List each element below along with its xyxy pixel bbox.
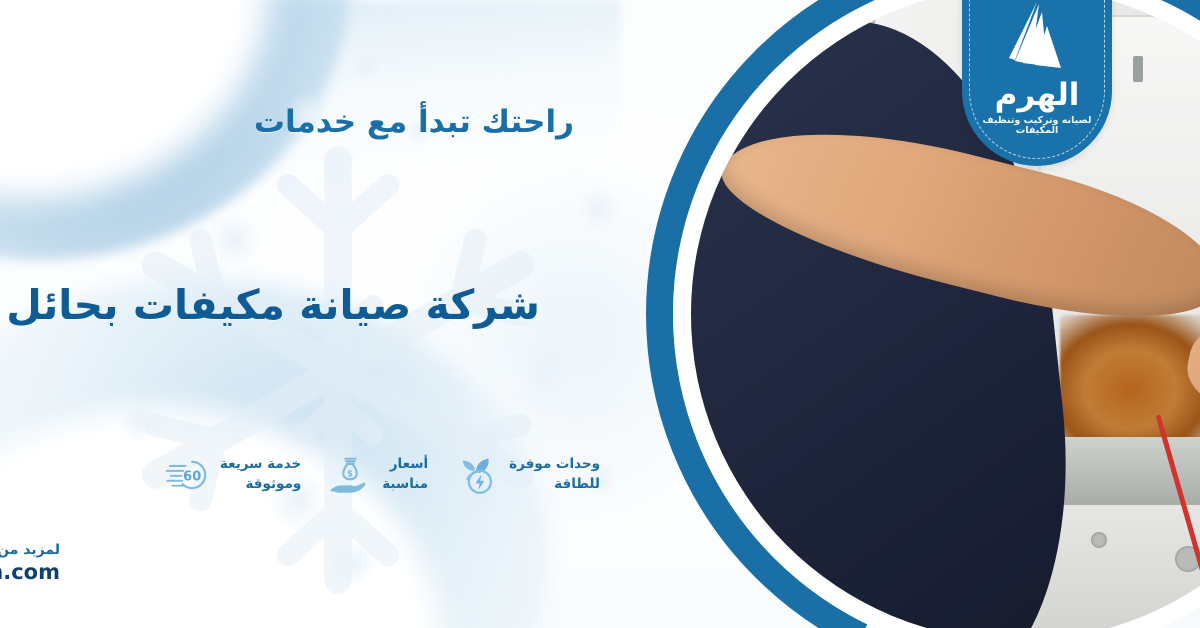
headline: راحتك تبدأ مع خدمات [254, 104, 574, 140]
bokeh-dot [206, 212, 262, 268]
footer-more-info: لمزيد من المعلومات [0, 541, 60, 559]
feature-label-speed: خدمة سريعة وموثوقة [220, 455, 301, 494]
bokeh-dot [120, 402, 160, 442]
logo-name: الهرم [962, 80, 1112, 111]
leaf-energy-icon [454, 452, 500, 498]
feature-item-price: أسعار مناسبة $ [327, 452, 428, 498]
feature-label-line1: وحدات موفرة [509, 456, 600, 472]
feature-label-line2: وموثوقة [245, 476, 301, 492]
feature-label-line1: خدمة سريعة [220, 456, 301, 472]
ac-technician-photo [691, 0, 1200, 628]
photo-circle-wrapper [646, 0, 1200, 628]
hand-money-icon: $ [327, 452, 373, 498]
company-logo[interactable]: الهرم لصيانه وتركيب وتنظيف المكيفات [962, 0, 1112, 166]
pyramid-fan-icon [985, 2, 1089, 76]
feature-label-energy: وحدات موفرة للطاقة [509, 455, 600, 494]
feature-item-speed: خدمة سريعة وموثوقة 60 [165, 452, 301, 498]
feature-label-line2: للطاقة [554, 476, 600, 492]
speed-icon-value: 60 [183, 470, 201, 485]
footer-contact[interactable]: لمزيد من المعلومات www.elharrm.com [0, 540, 60, 586]
promo-banner: راحتك تبدأ مع خدمات شركة صيانة مكيفات بح… [0, 0, 1200, 628]
bokeh-dot [576, 186, 622, 232]
bokeh-dot [330, 540, 376, 586]
footer-website-url[interactable]: www.elharrm.com [0, 559, 60, 585]
svg-text:$: $ [347, 470, 353, 480]
bokeh-dot [462, 398, 496, 432]
feature-label-price: أسعار مناسبة [382, 455, 428, 494]
feature-item-energy: وحدات موفرة للطاقة [454, 452, 600, 498]
speed-60-icon: 60 [165, 452, 211, 498]
bokeh-dot [520, 344, 572, 396]
bokeh-dot [352, 52, 382, 82]
feature-label-line2: مناسبة [382, 476, 428, 492]
logo-tagline: لصيانه وتركيب وتنظيف المكيفات [962, 116, 1112, 135]
page-title: شركة صيانة مكيفات بحائل [6, 281, 540, 329]
features-list: وحدات موفرة للطاقة أسعار مناسبة [165, 452, 600, 498]
feature-label-line1: أسعار [390, 456, 428, 472]
